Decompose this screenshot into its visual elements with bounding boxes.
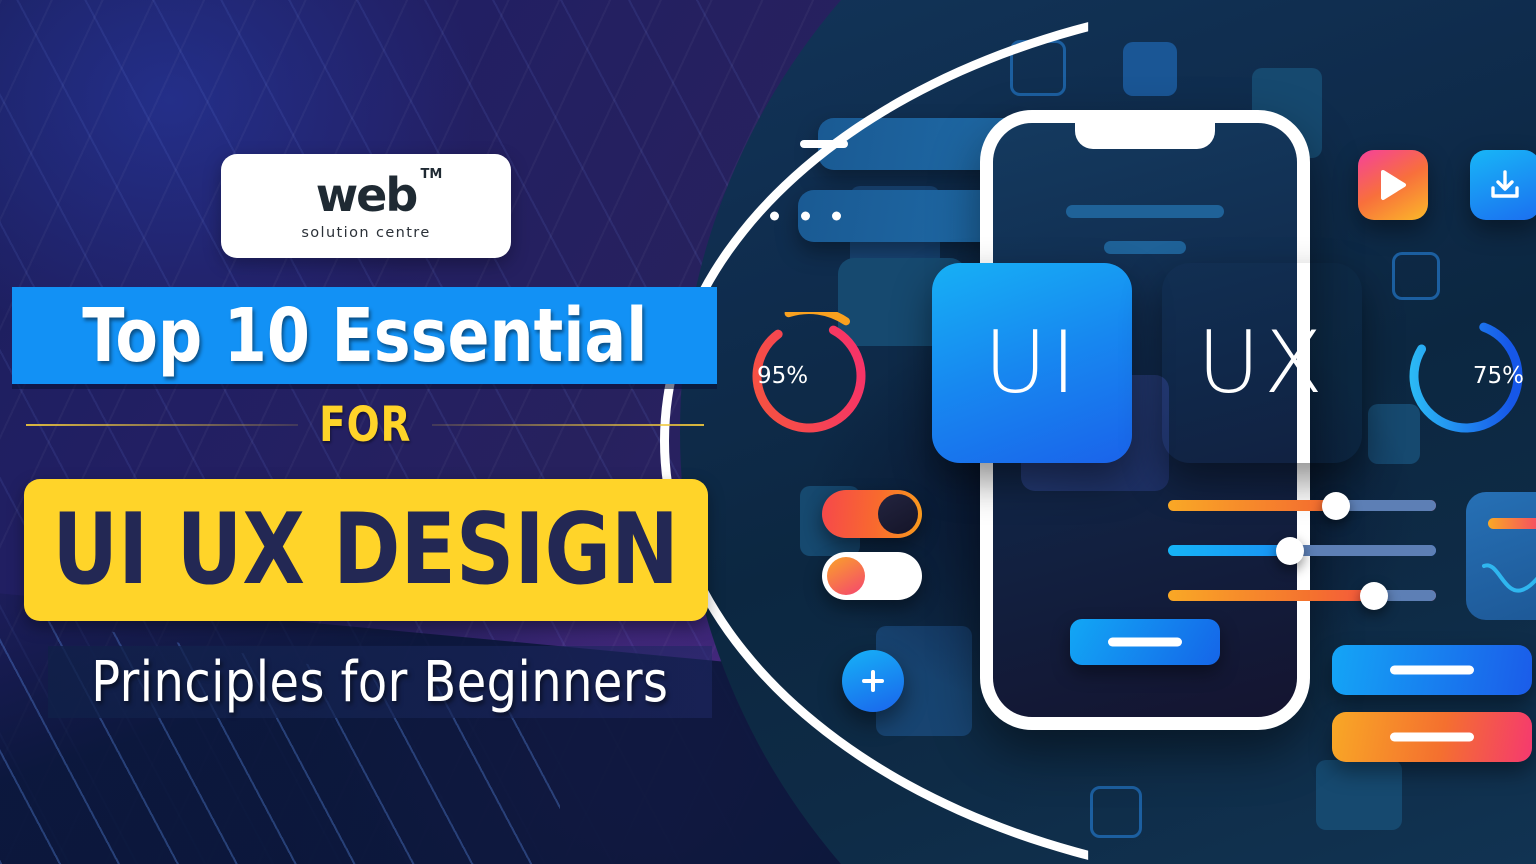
list-card-dash (800, 140, 848, 148)
ux-card-label: UX (1197, 313, 1327, 413)
headline-connector-row: FOR (26, 396, 704, 454)
wave-chart-icon (1482, 556, 1536, 600)
slider-middle[interactable] (1168, 545, 1436, 556)
headline-secondary-banner: UI UX DESIGN (24, 479, 708, 621)
logo-tagline: solution centre (301, 225, 430, 241)
decor-square-outline-2 (1392, 252, 1440, 300)
primary-pill-button[interactable] (1332, 645, 1532, 695)
slider-knob[interactable] (1276, 537, 1304, 565)
headline-primary-text: Top 10 Essential (82, 293, 647, 379)
logo-wordmark: web TM (316, 172, 417, 218)
slider-knob[interactable] (1360, 582, 1388, 610)
toggle-switch-on[interactable] (822, 490, 922, 538)
progress-ring-75: 75% (1402, 312, 1530, 440)
slider-track-remaining (1288, 545, 1436, 556)
toggle-switch-off[interactable] (822, 552, 922, 600)
decor-square-outline-3 (1090, 786, 1142, 838)
headline-connector-text: FOR (319, 397, 411, 453)
add-floating-action-button[interactable] (842, 650, 904, 712)
plus-icon (859, 667, 887, 695)
decor-square-fill-1 (1123, 42, 1177, 96)
edge-chart-card (1466, 492, 1536, 620)
headline-secondary-text: UI UX DESIGN (53, 501, 680, 599)
toggle-knob (827, 557, 865, 595)
slider-bottom[interactable] (1168, 590, 1436, 601)
play-icon (1378, 169, 1408, 201)
download-icon (1488, 168, 1522, 202)
ui-card-label: UI (984, 313, 1080, 413)
subtitle-text: Principles for Beginners (91, 650, 668, 715)
decor-square-fill-6 (1316, 760, 1402, 830)
list-card-dots (770, 212, 841, 221)
slider-knob[interactable] (1322, 492, 1350, 520)
decor-square-outline-1 (1010, 40, 1066, 96)
progress-ring-75-label: 75% (1473, 363, 1524, 389)
phone-placeholder-bar-2 (1104, 241, 1186, 254)
phone-placeholder-bar-1 (1066, 205, 1224, 218)
ux-card[interactable]: UX (1162, 263, 1362, 463)
progress-ring-95: 95% (745, 312, 873, 440)
brand-logo[interactable]: web TM solution centre (221, 154, 511, 258)
promo-banner: UI UX 95% (0, 0, 1536, 864)
secondary-pill-button[interactable] (1332, 712, 1532, 762)
edge-card-bar (1488, 518, 1536, 529)
divider-rule-left (26, 424, 298, 426)
subtitle-banner: Principles for Beginners (48, 646, 712, 718)
toggle-knob (878, 494, 918, 534)
headline-primary-banner: Top 10 Essential (12, 287, 717, 384)
logo-text: web (316, 168, 417, 222)
slider-top[interactable] (1168, 500, 1436, 511)
progress-ring-95-label: 95% (757, 363, 808, 389)
slider-track-remaining (1336, 500, 1436, 511)
play-button-tile[interactable] (1358, 150, 1428, 220)
divider-rule-right (432, 424, 704, 426)
illustration-panel: UI UX 95% (680, 0, 1536, 864)
download-button-tile[interactable] (1470, 150, 1536, 220)
ui-card[interactable]: UI (932, 263, 1132, 463)
phone-cta-button[interactable] (1070, 619, 1220, 665)
phone-notch (1075, 119, 1215, 149)
logo-trademark: TM (421, 168, 443, 181)
